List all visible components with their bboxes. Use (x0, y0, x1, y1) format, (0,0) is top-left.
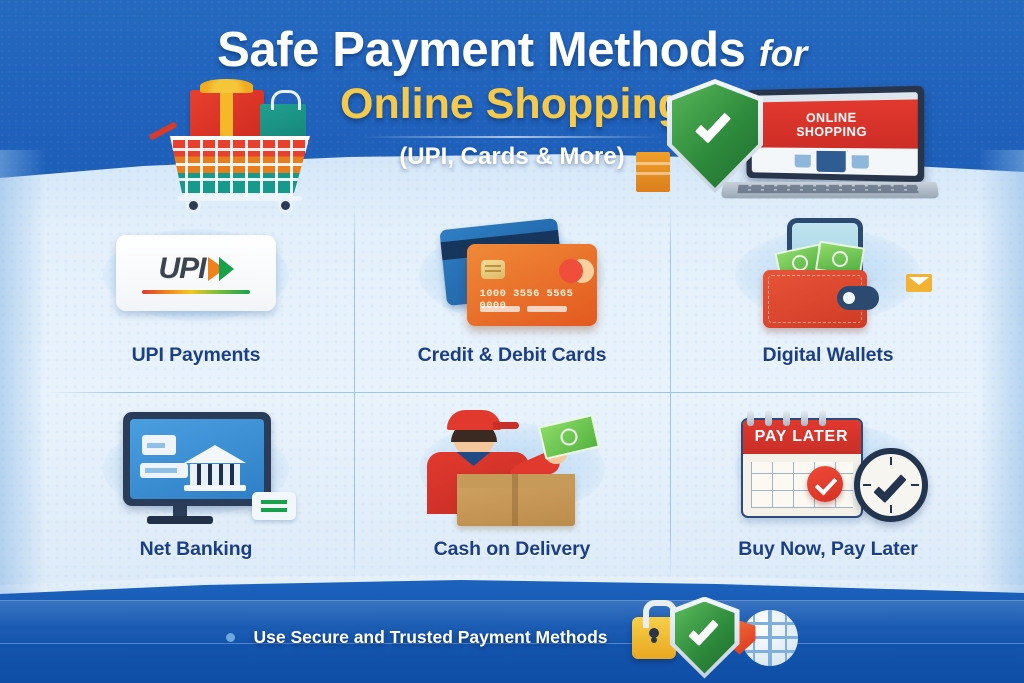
method-card-upi-payments[interactable]: UPI UPI Payments (38, 198, 354, 392)
method-card-buy-now-pay-later[interactable]: PAY LATER Buy Now, Pay Later (670, 392, 986, 586)
method-label-credit-debit-cards: Credit & Debit Cards (418, 344, 607, 367)
mastercard-circle-red (559, 259, 583, 283)
red-check-badge-icon (807, 466, 843, 502)
card-chip-icon (481, 260, 505, 279)
title-main-text: Safe Payment Methods (217, 23, 745, 77)
upi-logo-card: UPI (116, 235, 276, 311)
cash-on-delivery-icon (405, 408, 620, 526)
green-shield-check-icon (672, 84, 758, 188)
upi-logo-text: UPI (158, 252, 205, 286)
green-shield-check-icon (670, 597, 740, 679)
red-cap-icon (447, 410, 501, 430)
calendar-icon: PAY LATER (741, 418, 863, 518)
bank-card-icon (252, 492, 296, 520)
upi-gradient-bar (142, 290, 250, 294)
pay-later-calendar-icon: PAY LATER (721, 408, 936, 526)
wallet-icon (763, 270, 867, 328)
method-label-digital-wallets: Digital Wallets (762, 344, 893, 367)
footer-text-rest: and Trusted Payment Methods (354, 627, 608, 647)
footer-text: Use Secure and Trusted Payment Methods (253, 627, 607, 648)
footer-bullet-dot (226, 633, 235, 642)
method-label-cash-on-delivery: Cash on Delivery (434, 538, 591, 561)
method-card-cash-on-delivery[interactable]: Cash on Delivery (354, 392, 670, 586)
title-line-1: Safe Payment Methods for (0, 22, 1024, 78)
method-card-digital-wallets[interactable]: Digital Wallets (670, 198, 986, 392)
digital-wallet-icon (721, 214, 936, 332)
title-for-word: for (759, 33, 807, 74)
monitor-icon (123, 412, 271, 506)
infographic-poster: Safe Payment Methods for Online Shopping… (0, 0, 1024, 683)
title-block: Safe Payment Methods for Online Shopping… (0, 22, 1024, 171)
parcel-box-icon (457, 474, 575, 526)
method-label-buy-now-pay-later: Buy Now, Pay Later (738, 538, 918, 561)
screen-document-2 (140, 463, 188, 478)
payment-methods-grid: UPI UPI Payments 1000 3556 5565 0000 (38, 198, 986, 586)
title-divider-rule (362, 136, 662, 138)
upi-logo-row: UPI (158, 252, 233, 286)
cart-wheel-right (278, 198, 293, 213)
upi-logo-icon: UPI (89, 214, 304, 332)
method-card-credit-debit-cards[interactable]: 1000 3556 5565 0000 Credit & Debit Cards (354, 198, 670, 392)
title-subtitle: (UPI, Cards & More) (0, 143, 1024, 171)
calendar-ring (765, 410, 772, 426)
credit-cards-icon: 1000 3556 5565 0000 (405, 214, 620, 332)
monitor-screen (130, 419, 264, 499)
calendar-ring (747, 410, 754, 426)
orange-card-front: 1000 3556 5565 0000 (467, 244, 597, 326)
footer-content: Use Secure and Trusted Payment Methods (0, 578, 1024, 683)
net-banking-icon (89, 408, 304, 526)
bank-base (184, 485, 246, 491)
bank-building-icon (184, 445, 246, 491)
method-card-net-banking[interactable]: Net Banking (38, 392, 354, 586)
laptop-keyboard (737, 185, 918, 193)
clock-icon (854, 448, 928, 522)
envelope-icon (906, 274, 932, 292)
method-label-upi-payments: UPI Payments (132, 344, 261, 367)
wallet-strap (837, 286, 879, 310)
card-detail-bar-1 (480, 306, 520, 312)
method-label-net-banking: Net Banking (140, 538, 253, 561)
calendar-ring (801, 410, 808, 426)
monitor-stand-foot (147, 516, 213, 524)
footer-text-strong: Use Secure (253, 627, 348, 647)
title-line-2: Online Shopping (0, 80, 1024, 129)
card-detail-bar-2 (527, 306, 567, 312)
cart-wheel-left (186, 198, 201, 213)
calendar-ring (783, 410, 790, 426)
calendar-rings (747, 410, 839, 424)
calendar-ring (819, 410, 826, 426)
bank-roof (184, 445, 246, 463)
footer-icon-group (632, 597, 798, 679)
upi-arrow-green-icon (219, 257, 234, 281)
screen-document-1 (142, 435, 176, 455)
bank-columns (190, 464, 240, 485)
